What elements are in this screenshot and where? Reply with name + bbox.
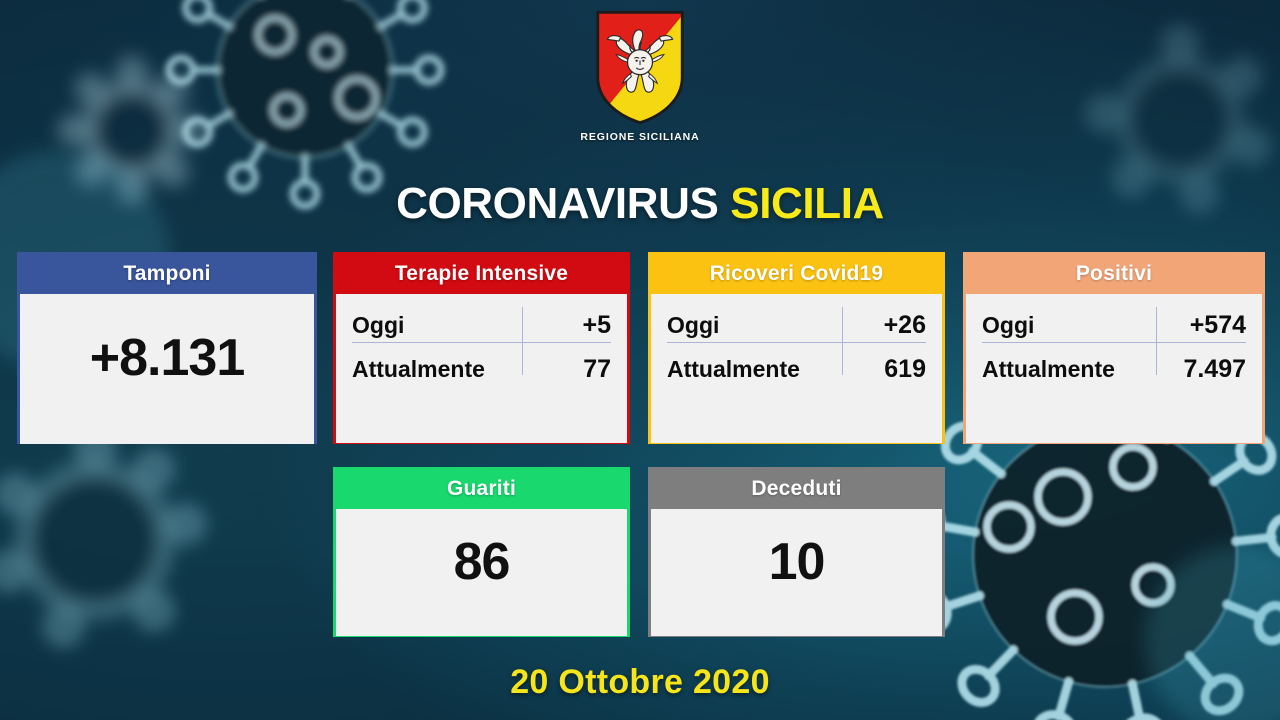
card-rows-ricoveri-covid19: Oggi +26 Attualmente 619 <box>651 294 942 443</box>
stat-card-tamponi: Tamponi +8.131 <box>17 252 317 444</box>
card-title-guariti: Guariti <box>336 470 627 509</box>
sicily-trinacria-shield-icon <box>592 8 688 126</box>
page-title: CORONAVIRUS SICILIA <box>0 179 1280 229</box>
row-label: Attualmente <box>352 356 485 383</box>
row-divider-vertical <box>1156 307 1157 375</box>
table-row: Oggi +574 <box>982 303 1246 347</box>
stat-card-ricoveri-covid19: Ricoveri Covid19 Oggi +26 Attualmente 61… <box>648 252 945 444</box>
report-date: 20 Ottobre 2020 <box>0 663 1280 702</box>
card-title-deceduti: Deceduti <box>651 470 942 509</box>
table-row: Attualmente 77 <box>352 347 611 391</box>
row-divider-horizontal <box>352 342 611 343</box>
card-title-terapie-intensive: Terapie Intensive <box>336 255 627 294</box>
row-value: 7.497 <box>1183 355 1246 384</box>
page-title-sicilia: SICILIA <box>730 179 884 228</box>
table-row: Oggi +5 <box>352 303 611 347</box>
stat-card-guariti: Guariti 86 <box>333 467 630 637</box>
card-rows-terapie-intensive: Oggi +5 Attualmente 77 <box>336 294 627 443</box>
row-value: +26 <box>884 311 926 340</box>
region-name-label: REGIONE SICILIANA <box>580 131 699 143</box>
stat-card-positivi: Positivi Oggi +574 Attualmente 7.497 <box>963 252 1265 444</box>
row-label: Oggi <box>982 312 1034 339</box>
card-title-positivi: Positivi <box>966 255 1262 294</box>
page-title-coronavirus: CORONAVIRUS <box>396 179 718 228</box>
stat-card-terapie-intensive: Terapie Intensive Oggi +5 Attualmente 77 <box>333 252 630 444</box>
table-row: Oggi +26 <box>667 303 926 347</box>
row-divider-vertical <box>842 307 843 375</box>
row-divider-vertical <box>522 307 523 375</box>
card-title-ricoveri-covid19: Ricoveri Covid19 <box>651 255 942 294</box>
card-value-tamponi: +8.131 <box>20 294 314 444</box>
card-rows-positivi: Oggi +574 Attualmente 7.497 <box>966 294 1262 443</box>
row-value: 619 <box>884 355 926 384</box>
row-label: Oggi <box>667 312 719 339</box>
card-value-guariti: 86 <box>336 509 627 636</box>
row-value: +5 <box>582 311 611 340</box>
row-divider-horizontal <box>667 342 926 343</box>
row-label: Attualmente <box>667 356 800 383</box>
row-label: Attualmente <box>982 356 1115 383</box>
regione-siciliana-emblem: REGIONE SICILIANA <box>0 8 1280 143</box>
row-value: 77 <box>583 355 611 384</box>
row-divider-horizontal <box>982 342 1246 343</box>
card-value-deceduti: 10 <box>651 509 942 636</box>
card-title-tamponi: Tamponi <box>20 255 314 294</box>
stat-card-deceduti: Deceduti 10 <box>648 467 945 637</box>
table-row: Attualmente 619 <box>667 347 926 391</box>
row-label: Oggi <box>352 312 404 339</box>
table-row: Attualmente 7.497 <box>982 347 1246 391</box>
row-value: +574 <box>1190 311 1246 340</box>
